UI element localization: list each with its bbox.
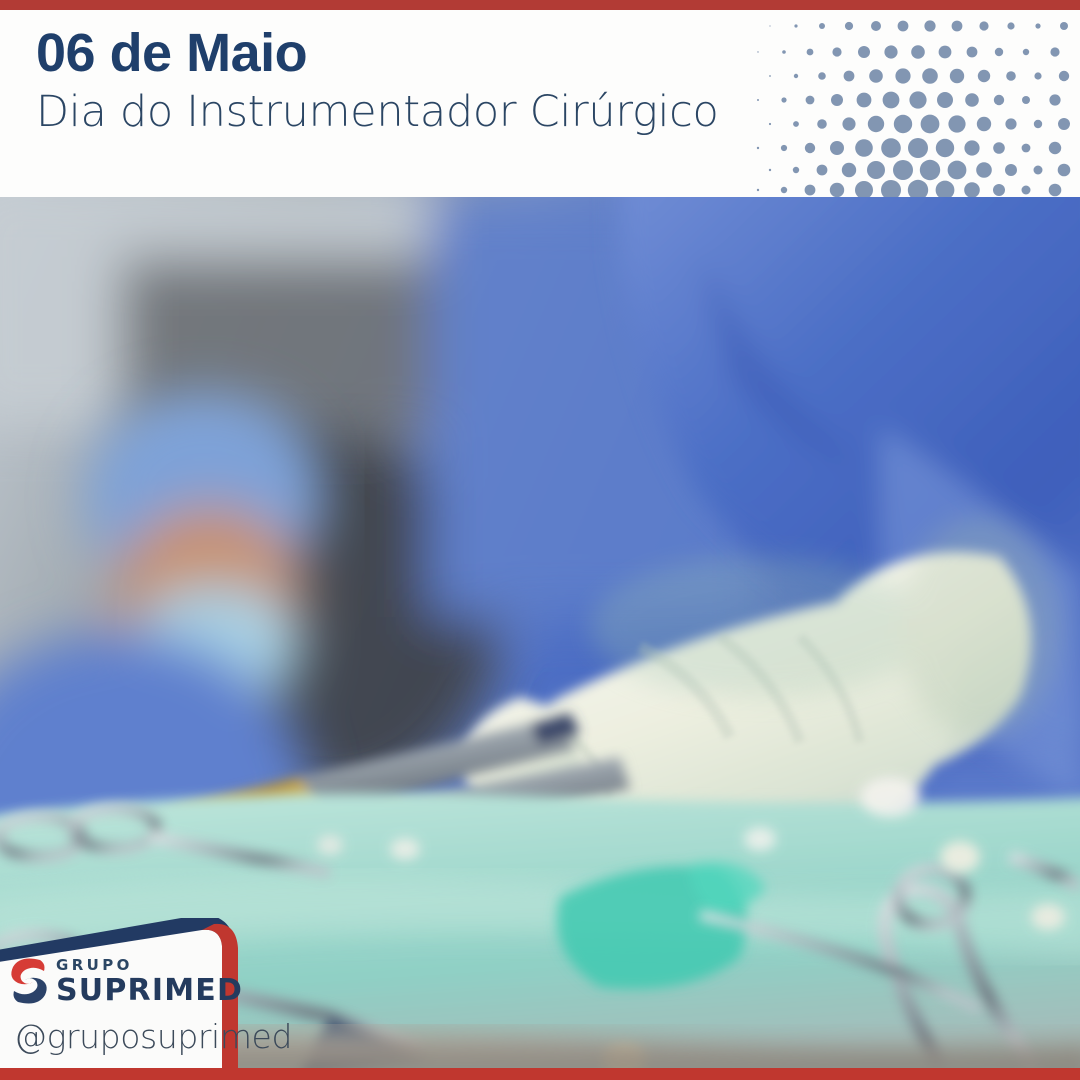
top-accent-bar xyxy=(0,0,1080,10)
header-text-block: 06 de Maio Dia do Instrumentador Cirúrgi… xyxy=(36,24,718,140)
suprimed-s-mark-icon xyxy=(6,954,52,1008)
brand-wordmark: GRUPO SUPRIMED xyxy=(56,958,243,1006)
brand-name: SUPRIMED xyxy=(56,976,243,1006)
page-title: 06 de Maio xyxy=(36,24,718,82)
poster-canvas: 06 de Maio Dia do Instrumentador Cirúrgi… xyxy=(0,0,1080,1080)
social-handle: @gruposuprimed xyxy=(14,1020,292,1053)
header-band: 06 de Maio Dia do Instrumentador Cirúrgi… xyxy=(0,10,1080,197)
halftone-dot-decoration xyxy=(750,10,1080,197)
bottom-accent-bar xyxy=(0,1068,1080,1080)
page-subtitle: Dia do Instrumentador Cirúrgico xyxy=(36,86,718,140)
brand-logo-content: GRUPO SUPRIMED @gruposuprimed xyxy=(0,918,268,1068)
brand-prefix: GRUPO xyxy=(56,958,243,973)
